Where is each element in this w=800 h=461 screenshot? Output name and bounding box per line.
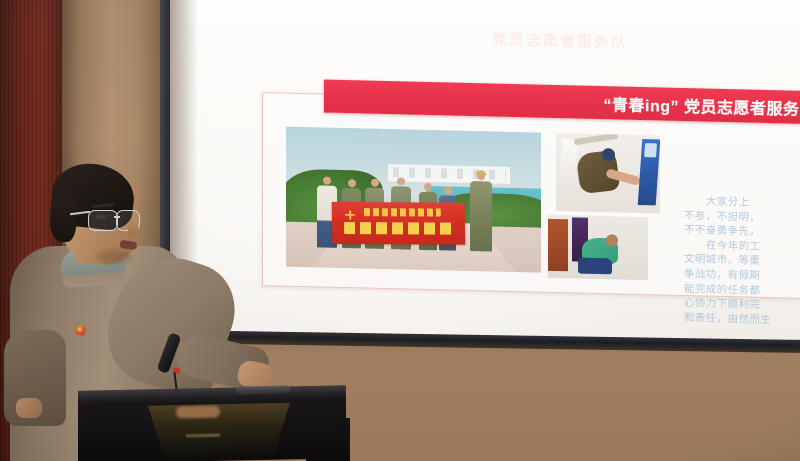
slide-photo-column	[548, 133, 676, 281]
photo-worker-head	[602, 148, 615, 161]
photo-person-head	[444, 187, 452, 195]
presenter-nose	[128, 222, 138, 235]
slide-photo-group: 大家分上 不参，不担明， 不不奋勇争先， 在今年的工 文明城市、等重 争战功，有…	[286, 127, 800, 284]
photo-worker-head	[606, 234, 618, 246]
photo-volunteer-work-bottom	[548, 215, 648, 280]
projected-overflow-title: 党员志愿者服务队	[492, 29, 628, 53]
photo-person-head	[424, 183, 432, 191]
podium-reflection-hand	[176, 406, 220, 419]
slide-title-text: “青春ing” 党员志愿者服务队	[604, 91, 800, 120]
photo-pole	[574, 133, 618, 145]
glasses-icon	[88, 210, 118, 231]
photo-volunteer-work-top	[556, 133, 660, 213]
slide-body-line: 和责任，由然而生	[684, 311, 800, 329]
photo-person-head	[371, 179, 379, 187]
party-lapel-pin-icon	[75, 325, 86, 336]
photo-person-cap	[475, 171, 486, 176]
photo-person-head	[397, 178, 405, 186]
photo-person-with-cap	[470, 181, 492, 252]
photo-light-streak	[558, 138, 579, 188]
photo-worker-legs	[578, 258, 612, 275]
slide-body-text: 大家分上 不参，不担明， 不不奋勇争先， 在今年的工 文明城市、等重 争战功，有…	[684, 194, 800, 344]
presentation-photo-scene: 党员志愿者服务队 “青春ing” 党员志愿者服务队	[0, 0, 800, 461]
glasses-bridge	[114, 216, 120, 218]
photo-person-head	[323, 177, 331, 185]
photo-banner-text-line2	[344, 222, 453, 235]
photo-door-panel	[548, 219, 568, 271]
presenter-hair-side	[50, 196, 76, 242]
photo-red-banner	[332, 202, 465, 245]
presenter-chin-shadow	[96, 250, 132, 264]
photo-distant-building	[388, 164, 510, 185]
photo-group-volunteers	[286, 127, 541, 273]
party-emblem-icon	[344, 209, 356, 220]
presenter-left-hand	[16, 398, 42, 418]
podium-edge-highlight	[236, 385, 290, 394]
photo-person-head	[348, 180, 356, 188]
photo-banner-text-line1	[363, 208, 440, 216]
photo-blue-kiosk	[638, 139, 660, 205]
photo-kiosk-screen	[644, 143, 657, 157]
projected-slide: “青春ing” 党员志愿者服务队	[258, 68, 800, 311]
